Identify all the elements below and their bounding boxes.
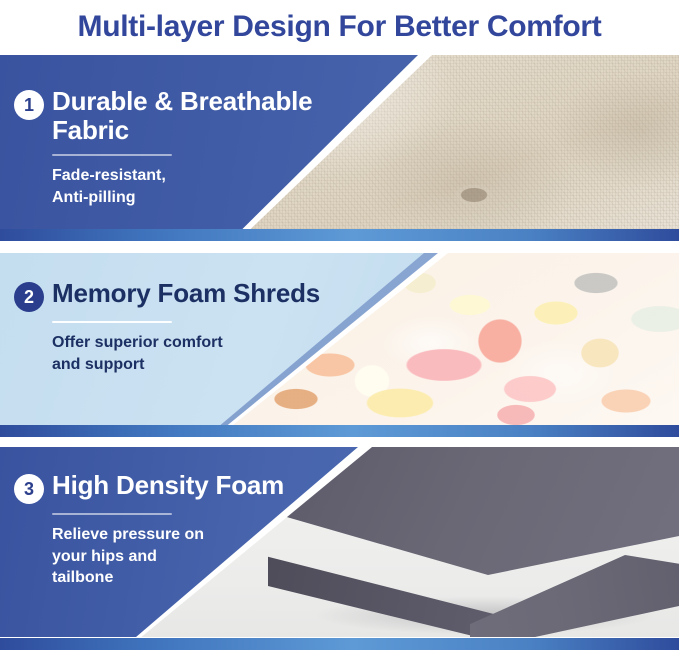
header: Multi-layer Design For Better Comfort: [0, 0, 679, 54]
divider-1: [52, 154, 172, 156]
layer-subtitle-3-line-1: Relieve pressure on: [52, 524, 344, 546]
panel-separator-strip-2: [0, 425, 679, 437]
divider-2: [52, 321, 172, 323]
layer-subtitle-3: Relieve pressure on your hips and tailbo…: [52, 524, 344, 589]
layer-title-1: Durable & Breathable Fabric: [52, 87, 344, 145]
layer-subtitle-3-line-2: your hips and: [52, 546, 344, 568]
layer-number-badge-3: 3: [14, 474, 44, 504]
layer-content-1: 1 Durable & Breathable Fabric Fade-resis…: [14, 87, 344, 208]
layer-subtitle-1: Fade-resistant, Anti-pilling: [52, 165, 344, 208]
layer-head-row-1: 1 Durable & Breathable Fabric: [14, 87, 344, 145]
layer-subtitle-2-line-2: and support: [52, 354, 344, 376]
layer-subtitle-3-line-3: tailbone: [52, 567, 344, 589]
layer-head-row-2: 2 Memory Foam Shreds: [14, 279, 344, 312]
page-title: Multi-layer Design For Better Comfort: [78, 10, 602, 44]
layer-panel-1: 1 Durable & Breathable Fabric Fade-resis…: [0, 55, 679, 229]
layer-panel-3: 3 High Density Foam Relieve pressure on …: [0, 447, 679, 637]
panel-separator-strip-3: [0, 638, 679, 650]
layer-content-2: 2 Memory Foam Shreds Offer superior comf…: [14, 279, 344, 375]
layer-title-2: Memory Foam Shreds: [52, 279, 320, 308]
layer-number-badge-2: 2: [14, 282, 44, 312]
layer-subtitle-2-line-1: Offer superior comfort: [52, 332, 344, 354]
layer-number-badge-1: 1: [14, 90, 44, 120]
layer-title-3: High Density Foam: [52, 471, 284, 500]
divider-3: [52, 513, 172, 515]
layer-subtitle-2: Offer superior comfort and support: [52, 332, 344, 375]
layer-head-row-3: 3 High Density Foam: [14, 471, 344, 504]
layer-subtitle-1-line-1: Fade-resistant,: [52, 165, 344, 187]
panel-separator-strip-1: [0, 229, 679, 241]
infographic-root: Multi-layer Design For Better Comfort 1 …: [0, 0, 679, 650]
layer-content-3: 3 High Density Foam Relieve pressure on …: [14, 471, 344, 589]
layer-panel-2: 2 Memory Foam Shreds Offer superior comf…: [0, 253, 679, 425]
layer-subtitle-1-line-2: Anti-pilling: [52, 187, 344, 209]
